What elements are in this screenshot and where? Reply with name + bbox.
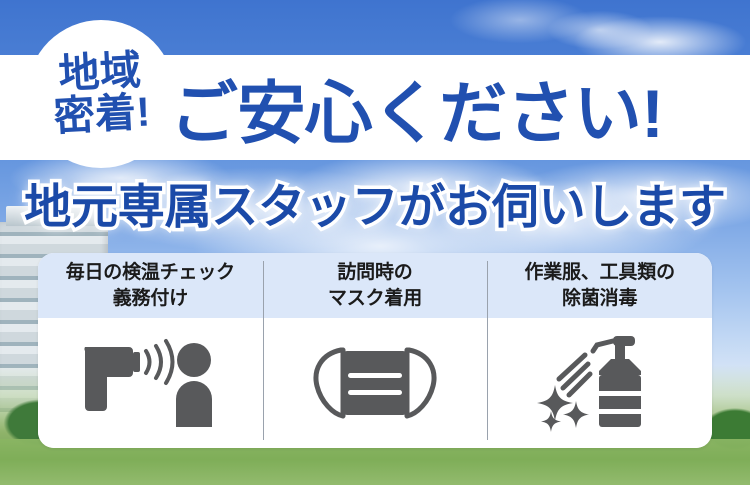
card-divider-2 [487,261,488,440]
feature-card-panel: 毎日の検温チェック 義務付け [38,253,712,448]
sub-headline: 地元専属スタッフがお伺いします [0,168,750,237]
card-divider-1 [263,261,264,440]
card-title-line1: 毎日の検温チェック [66,262,235,283]
surgical-mask-icon [307,340,443,426]
card-title-mask: 訪問時の マスク着用 [263,253,488,318]
thermometer-gun-person-icon [81,337,219,429]
card-title-line2: 義務付け [113,288,188,309]
region-badge: 地域 密着! [34,49,168,139]
main-headline: ご安心ください! [170,58,736,156]
card-title-disinfection: 作業服、工具類の 除菌消毒 [487,253,712,318]
region-badge-line2: 密着! [36,90,168,139]
feature-card-mask: 訪問時の マスク着用 [263,253,488,448]
card-icon-area-disinfection [487,318,712,448]
card-icon-area-temperature-check [38,318,263,448]
spray-bottle-sparkle-icon [535,333,665,433]
card-title-line2: マスク着用 [328,288,422,309]
card-icon-area-mask [263,318,488,448]
feature-card-disinfection: 作業服、工具類の 除菌消毒 [487,253,712,448]
card-title-line2: 除菌消毒 [562,288,637,309]
promo-banner: 地域 密着! ご安心ください! 地元専属スタッフがお伺いします 毎日の検温チェッ… [0,0,750,485]
card-title-line1: 訪問時の [337,262,412,283]
feature-card-temperature-check: 毎日の検温チェック 義務付け [38,253,263,448]
card-title-temperature-check: 毎日の検温チェック 義務付け [38,253,263,318]
card-title-line1: 作業服、工具類の [524,262,674,283]
